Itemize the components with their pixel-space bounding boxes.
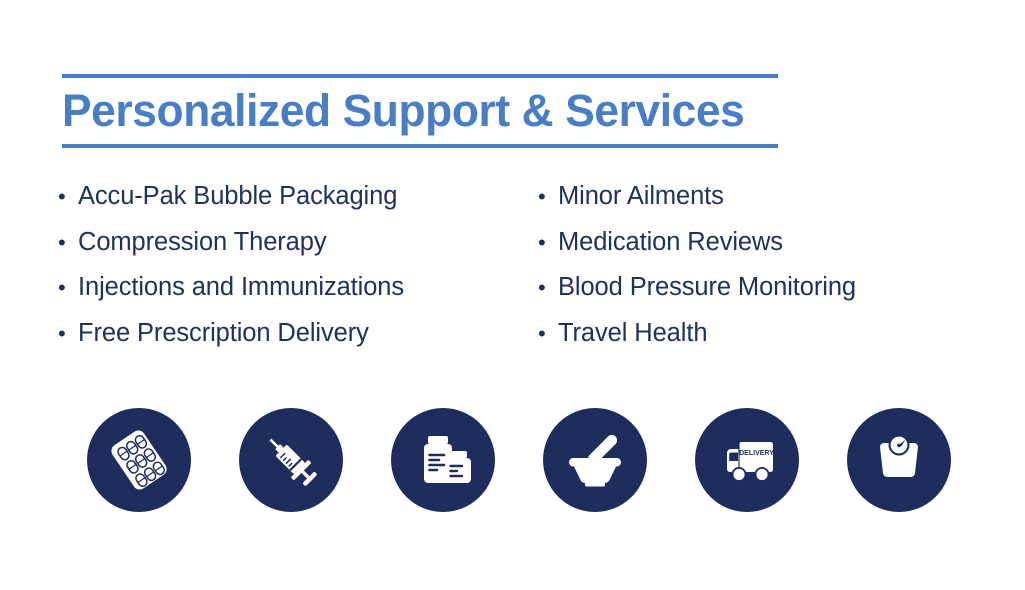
bullet-icon: • xyxy=(58,319,78,349)
list-item: • Free Prescription Delivery xyxy=(58,318,528,364)
bullet-icon: • xyxy=(538,273,558,303)
title-rule-bottom xyxy=(62,144,778,148)
delivery-van-icon: DELIVERY xyxy=(695,408,799,512)
bullet-icon: • xyxy=(58,273,78,303)
syringe-icon xyxy=(239,408,343,512)
bullet-icon: • xyxy=(538,182,558,212)
bullet-icon: • xyxy=(538,319,558,349)
list-item-label: Injections and Immunizations xyxy=(78,272,404,302)
services-list-right: • Minor Ailments • Medication Reviews • … xyxy=(538,181,1008,364)
list-item-label: Compression Therapy xyxy=(78,227,327,257)
list-item: • Accu-Pak Bubble Packaging xyxy=(58,181,528,227)
bullet-icon: • xyxy=(58,182,78,212)
delivery-truck-label: DELIVERY xyxy=(739,450,774,457)
pill-bottles-icon xyxy=(391,408,495,512)
page-title: Personalized Support & Services xyxy=(62,78,767,144)
service-icon-row: DELIVERY xyxy=(87,408,951,512)
list-item-label: Accu-Pak Bubble Packaging xyxy=(78,181,397,211)
list-item: • Injections and Immunizations xyxy=(58,272,528,318)
services-list-left: • Accu-Pak Bubble Packaging • Compressio… xyxy=(58,181,528,364)
list-item: • Blood Pressure Monitoring xyxy=(538,272,1008,318)
weight-scale-icon xyxy=(847,408,951,512)
list-item: • Compression Therapy xyxy=(58,227,528,273)
list-item: • Minor Ailments xyxy=(538,181,1008,227)
bullet-icon: • xyxy=(538,228,558,258)
mortar-pestle-icon xyxy=(543,408,647,512)
list-item-label: Minor Ailments xyxy=(558,181,724,211)
title-block: Personalized Support & Services xyxy=(62,74,778,148)
list-item: • Travel Health xyxy=(538,318,1008,364)
bullet-icon: • xyxy=(58,228,78,258)
slide-canvas: Personalized Support & Services • Accu-P… xyxy=(0,0,1025,590)
list-item-label: Blood Pressure Monitoring xyxy=(558,272,856,302)
list-item: • Medication Reviews xyxy=(538,227,1008,273)
list-item-label: Free Prescription Delivery xyxy=(78,318,369,348)
blister-pack-icon xyxy=(87,408,191,512)
list-item-label: Medication Reviews xyxy=(558,227,783,257)
list-item-label: Travel Health xyxy=(558,318,707,348)
